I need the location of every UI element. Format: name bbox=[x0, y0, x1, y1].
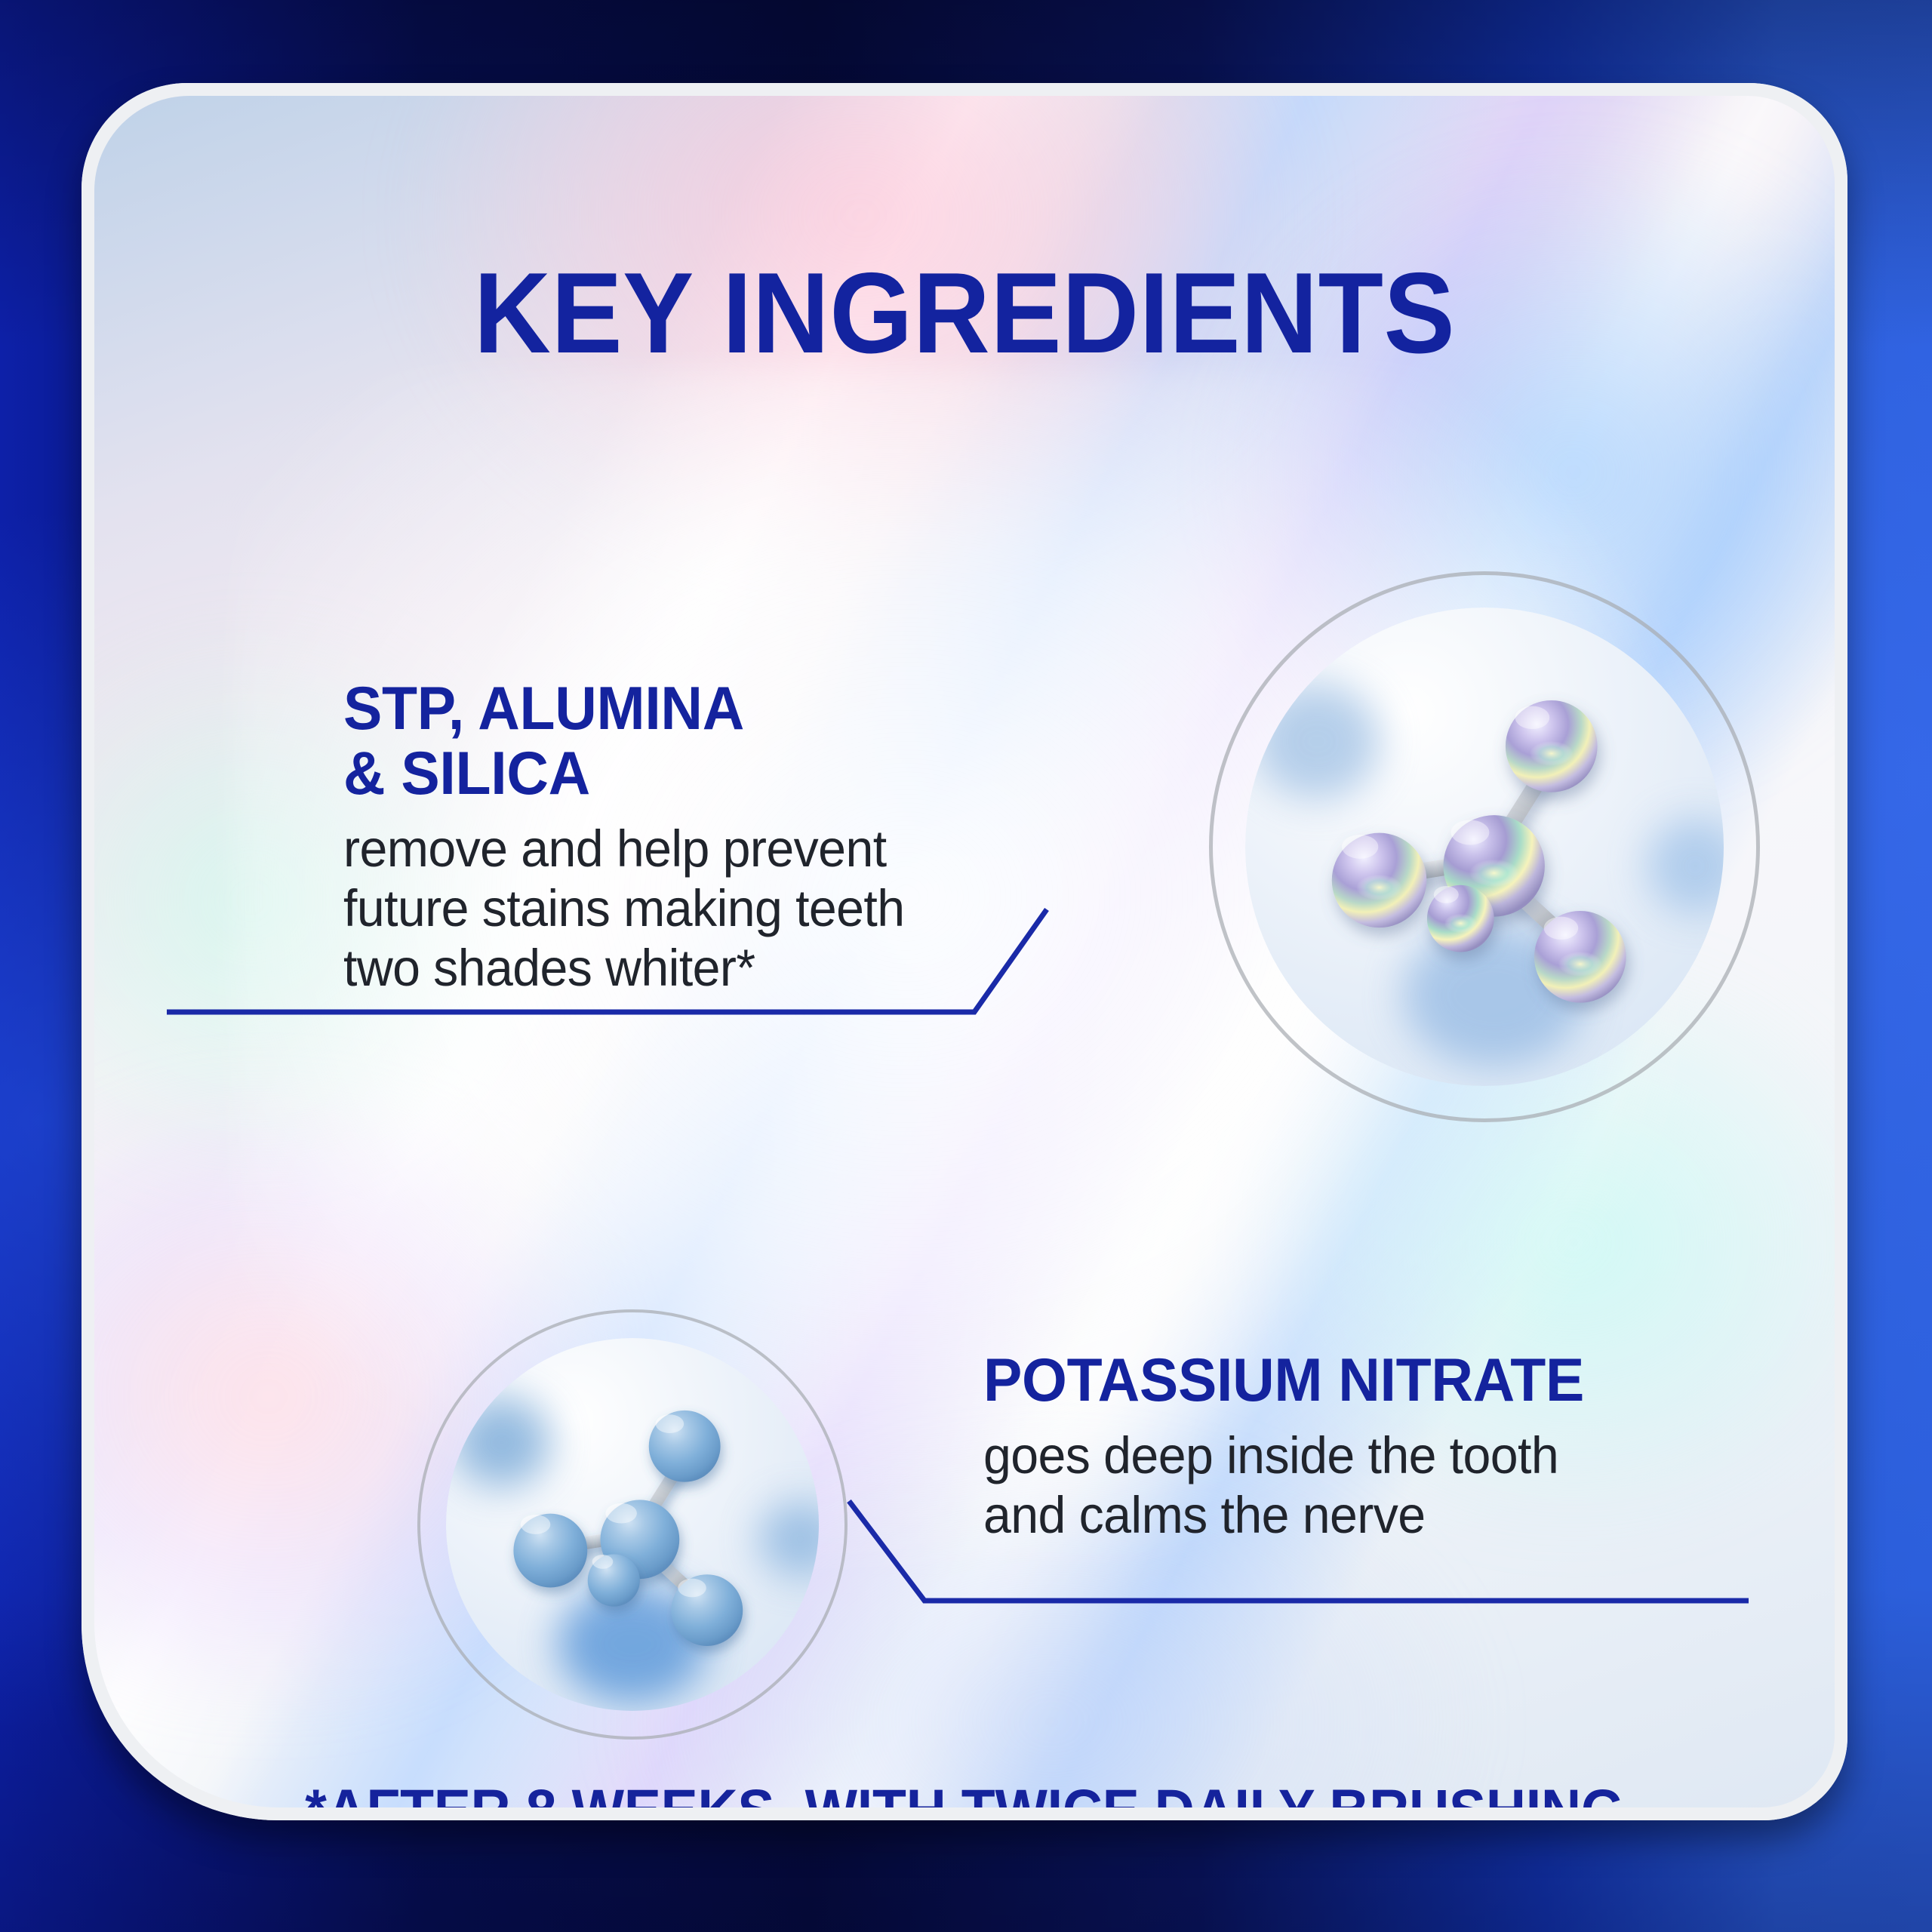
ingredient-block-stp: STP, ALUMINA & SILICA remove and help pr… bbox=[343, 677, 1098, 998]
molecule-disc bbox=[446, 1338, 819, 1711]
molecule-atoms bbox=[1332, 700, 1626, 1003]
card-inner-panel: KEY INGREDIENTS bbox=[94, 96, 1835, 1807]
molecule-disc bbox=[1245, 608, 1724, 1086]
blue-molecule-badge bbox=[417, 1309, 848, 1740]
content-card: KEY INGREDIENTS bbox=[82, 83, 1847, 1820]
ingredient-heading-stp: STP, ALUMINA & SILICA bbox=[343, 677, 1060, 807]
ingredients-infographic: KEY INGREDIENTS bbox=[0, 0, 1932, 1932]
molecule-structure-iridescent bbox=[1245, 608, 1724, 1086]
page-title: KEY INGREDIENTS bbox=[155, 256, 1774, 371]
footnote-disclaimer: *AFTER 8 WEEKS, WITH TWICE DAILY BRUSHIN… bbox=[155, 1780, 1774, 1807]
molecule-atoms bbox=[513, 1411, 743, 1646]
ingredient-block-potassium-nitrate: POTASSIUM NITRATE goes deep inside the t… bbox=[983, 1349, 1829, 1546]
molecule-structure-blue bbox=[446, 1338, 819, 1711]
ingredient-heading-potassium-nitrate: POTASSIUM NITRATE bbox=[983, 1349, 1786, 1414]
iridescent-molecule-badge bbox=[1209, 571, 1760, 1122]
ingredient-body-stp: remove and help prevent future stains ma… bbox=[343, 819, 1068, 998]
ingredient-body-potassium-nitrate: goes deep inside the tooth and calms the… bbox=[983, 1426, 1795, 1546]
